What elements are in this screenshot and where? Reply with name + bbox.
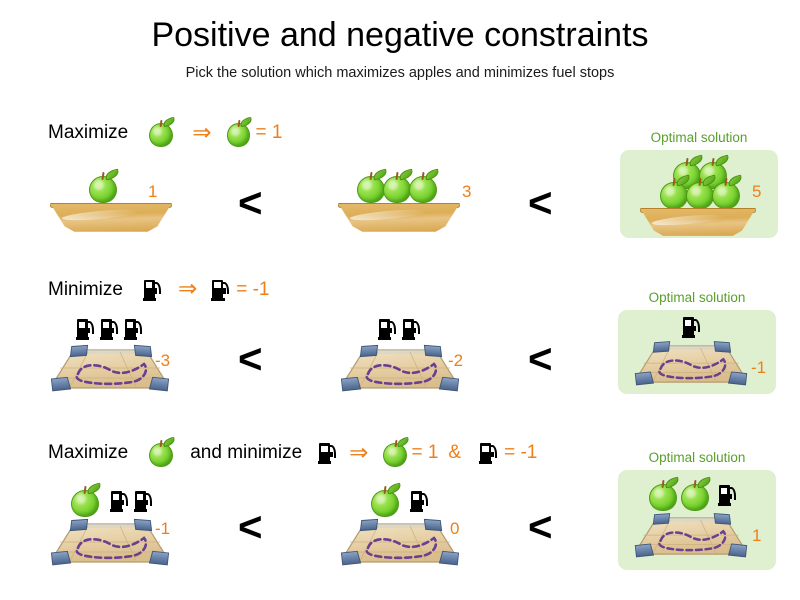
score-label: 0 xyxy=(450,519,459,539)
apple-icon xyxy=(408,170,438,204)
legend-verb: Maximize xyxy=(48,122,128,144)
legend-equals: = -1 xyxy=(236,279,269,301)
fuel-pump-icon xyxy=(410,490,429,512)
legend-verb: Maximize xyxy=(48,442,128,464)
implies-arrow-icon: ⇒ xyxy=(349,441,368,464)
route-map-icon xyxy=(338,344,462,396)
fuel-pump-icon xyxy=(682,316,701,338)
score-label: 3 xyxy=(462,182,471,202)
score-label: 1 xyxy=(148,182,157,202)
apple-icon xyxy=(148,438,174,468)
solution-1-apple-1-stop[interactable] xyxy=(338,484,508,566)
route-map-icon xyxy=(48,344,172,396)
comparator-less-than: < xyxy=(238,338,263,380)
comparator-less-than: < xyxy=(528,338,553,380)
comparator-less-than: < xyxy=(528,506,553,548)
apple-icon xyxy=(711,176,741,210)
solution-1-apple[interactable] xyxy=(50,170,210,240)
score-label: -2 xyxy=(448,351,463,371)
implies-arrow-icon: ⇒ xyxy=(192,121,211,144)
fuel-pump-icon xyxy=(318,442,337,464)
fuel-pump-icon xyxy=(124,318,143,340)
page-title: Positive and negative constraints xyxy=(0,16,800,55)
solution-5-apples xyxy=(634,156,764,236)
legend-equals: = 1 xyxy=(411,442,438,464)
comparator-less-than: < xyxy=(528,182,553,224)
optimal-solution-label: Optimal solution xyxy=(618,450,776,465)
solution-3-apples[interactable] xyxy=(338,168,508,240)
optimal-solution-label: Optimal solution xyxy=(618,290,776,305)
fuel-pump-icon xyxy=(402,318,421,340)
legend-row-minimize-fuel: Minimize ⇒ = -1 xyxy=(48,278,270,301)
page-subtitle: Pick the solution which maximizes apples… xyxy=(0,65,800,81)
route-map-icon xyxy=(338,518,462,570)
optimal-solution-panel[interactable]: -1 xyxy=(618,310,776,394)
optimal-solution-label: Optimal solution xyxy=(620,130,778,145)
apple-icon xyxy=(226,118,252,148)
optimal-solution-panel[interactable]: 1 xyxy=(618,470,776,570)
route-map-icon xyxy=(48,518,172,570)
fuel-pump-icon xyxy=(143,279,162,301)
legend-equals-2: = -1 xyxy=(504,442,537,464)
implies-arrow-icon: ⇒ xyxy=(178,277,197,300)
legend-equals: = 1 xyxy=(256,122,283,144)
optimal-solution-panel[interactable]: 5 xyxy=(620,150,778,238)
comparator-less-than: < xyxy=(238,506,263,548)
solution-2-stops[interactable] xyxy=(338,318,508,398)
comparator-less-than: < xyxy=(238,182,263,224)
score-label: -1 xyxy=(751,358,766,378)
fruit-bowl-icon xyxy=(50,203,172,233)
legend-ampersand: & xyxy=(448,442,461,464)
solution-3-stops[interactable] xyxy=(48,318,218,398)
fuel-pump-icon xyxy=(100,318,119,340)
fruit-bowl-icon xyxy=(338,203,460,233)
score-label: -1 xyxy=(155,519,170,539)
apple-icon xyxy=(648,478,678,512)
apple-icon xyxy=(70,484,100,518)
solution-2-apples-1-stop xyxy=(630,478,762,566)
legend-row-maximize-apples: Maximize ⇒ = 1 xyxy=(48,118,282,148)
score-label: -3 xyxy=(155,351,170,371)
fuel-pump-icon xyxy=(211,279,230,301)
fuel-pump-icon xyxy=(110,490,129,512)
fuel-pump-icon xyxy=(718,484,737,506)
route-map-icon xyxy=(632,512,750,562)
solution-1-stop xyxy=(630,316,760,390)
apple-icon xyxy=(370,484,400,518)
apple-icon xyxy=(382,438,408,468)
apple-icon xyxy=(88,170,118,204)
fuel-pump-icon xyxy=(378,318,397,340)
apple-icon xyxy=(680,478,710,512)
fruit-bowl-icon xyxy=(640,208,756,237)
route-map-icon xyxy=(632,340,750,390)
legend-conjunction: and minimize xyxy=(190,442,302,464)
score-label: 1 xyxy=(752,526,761,546)
fuel-pump-icon xyxy=(479,442,498,464)
fuel-pump-icon xyxy=(134,490,153,512)
legend-row-combined: Maximize and minimize ⇒ = 1 & = -1 xyxy=(48,438,537,468)
apple-icon xyxy=(148,118,174,148)
legend-verb: Minimize xyxy=(48,279,123,301)
score-label: 5 xyxy=(752,182,761,202)
fuel-pump-icon xyxy=(76,318,95,340)
solution-1-apple-2-stops[interactable] xyxy=(48,484,218,566)
